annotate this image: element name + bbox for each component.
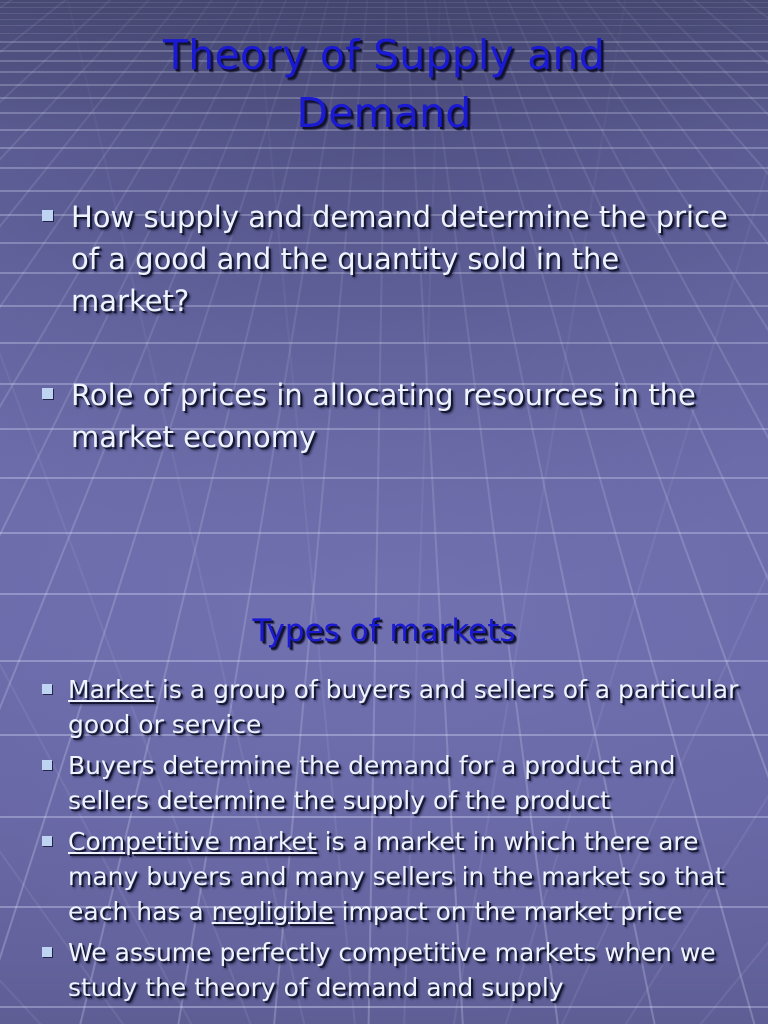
bullet-text: How supply and demand determine the pric… [71,196,742,322]
section-heading-types-of-markets: Types of markets [60,612,708,651]
slide-title: Theory of Supply and Demand [60,26,708,142]
bullet-text: Competitive market is a market in which … [68,824,748,929]
square-bullet-icon [42,388,53,399]
square-bullet-icon [42,210,53,221]
underlined-term: negligible [212,897,334,926]
square-bullet-icon [42,947,52,957]
bullet-item: We assume perfectly competitive markets … [42,935,748,1005]
bullet-text: Role of prices in allocating resources i… [71,374,742,458]
underlined-term: Market [68,675,154,704]
square-bullet-icon [42,836,52,846]
bullet-text: Buyers determine the demand for a produc… [68,748,748,818]
lower-bullet-list: Market is a group of buyers and sellers … [42,672,748,1005]
square-bullet-icon [42,684,52,694]
bullet-text: Market is a group of buyers and sellers … [68,672,748,742]
slide-content: Theory of Supply and Demand How supply a… [0,0,768,1024]
bullet-item: How supply and demand determine the pric… [42,196,742,322]
bullet-item: Market is a group of buyers and sellers … [42,672,748,742]
bullet-item: Role of prices in allocating resources i… [42,374,742,458]
bullet-item: Buyers determine the demand for a produc… [42,748,748,818]
square-bullet-icon [42,760,52,770]
bullet-item: Competitive market is a market in which … [42,824,748,929]
underlined-term: Competitive market [68,827,317,856]
presentation-slide: Theory of Supply and Demand How supply a… [0,0,768,1024]
upper-bullet-list: How supply and demand determine the pric… [42,196,742,458]
bullet-text: We assume perfectly competitive markets … [68,935,748,1005]
